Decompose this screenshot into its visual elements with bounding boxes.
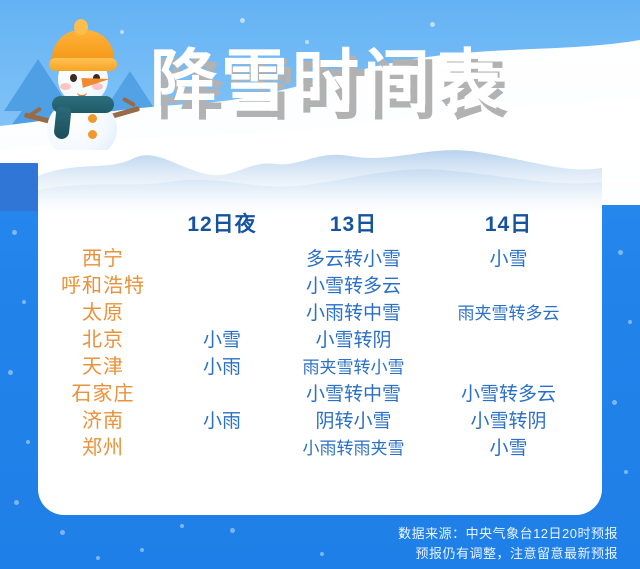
table-row: 呼和浩特 小雪转多云 xyxy=(38,269,602,296)
snowman-illustration xyxy=(22,14,140,166)
row-city: 西宁 xyxy=(38,242,168,271)
table-row: 太原 小雨转中雪 雨夹雪转多云 xyxy=(38,296,602,323)
row-day3: 雨夹雪转多云 xyxy=(431,299,586,324)
row-day3: 小雪转多云 xyxy=(431,379,586,406)
table-row: 济南 小雨 阴转小雪 小雪转阴 xyxy=(38,404,602,431)
row-day3: 小雪 xyxy=(431,244,586,271)
table-header-row: 12日夜 13日 14日 xyxy=(38,208,602,242)
header-day-14: 14日 xyxy=(431,208,586,238)
header-day-12-night: 12日夜 xyxy=(168,208,276,238)
row-day2: 小雪转中雪 xyxy=(276,379,431,406)
row-day2: 阴转小雪 xyxy=(276,406,431,433)
table-row: 天津 小雨 雨夹雪转小雪 xyxy=(38,350,602,377)
row-day1: 小雪 xyxy=(168,325,276,352)
table-row: 西宁 多云转小雪 小雪 xyxy=(38,242,602,269)
table-row: 郑州 小雨转雨夹雪 小雪 xyxy=(38,431,602,458)
row-day2: 多云转小雪 xyxy=(276,244,431,271)
row-day2: 小雨转中雪 xyxy=(276,298,431,325)
row-day3: 小雪转阴 xyxy=(431,406,586,433)
row-day2: 小雪转阴 xyxy=(276,325,431,352)
table-row: 北京 小雪 小雪转阴 xyxy=(38,323,602,350)
row-city: 呼和浩特 xyxy=(38,269,168,298)
row-city: 郑州 xyxy=(38,431,168,460)
table-row: 石家庄 小雪转中雪 小雪转多云 xyxy=(38,377,602,404)
row-city: 北京 xyxy=(38,323,168,352)
row-day3: 小雪 xyxy=(431,433,586,460)
row-day1: 小雨 xyxy=(168,406,276,433)
row-city: 天津 xyxy=(38,350,168,379)
row-city: 济南 xyxy=(38,404,168,433)
row-city: 石家庄 xyxy=(38,377,168,406)
data-source-line-1: 数据来源：中央气象台12日20时预报 xyxy=(218,524,618,544)
row-day1: 小雨 xyxy=(168,352,276,379)
row-day2: 小雨转雨夹雪 xyxy=(276,434,431,459)
snow-schedule-table: 12日夜 13日 14日 西宁 多云转小雪 小雪 呼和浩特 小雪转多云 太原 小… xyxy=(38,208,602,458)
data-source-note: 数据来源：中央气象台12日20时预报 预报仍有调整，注意留意最新预报 xyxy=(218,524,618,564)
row-city: 太原 xyxy=(38,296,168,325)
row-day2: 雨夹雪转小雪 xyxy=(276,353,431,378)
row-day2: 小雪转多云 xyxy=(276,271,431,298)
snow-schedule-poster: 降雪时间表 12日夜 13日 14日 xyxy=(0,0,640,569)
page-title: 降雪时间表 xyxy=(150,48,505,115)
header-day-13: 13日 xyxy=(276,208,431,238)
data-source-line-2: 预报仍有调整，注意留意最新预报 xyxy=(218,544,618,564)
